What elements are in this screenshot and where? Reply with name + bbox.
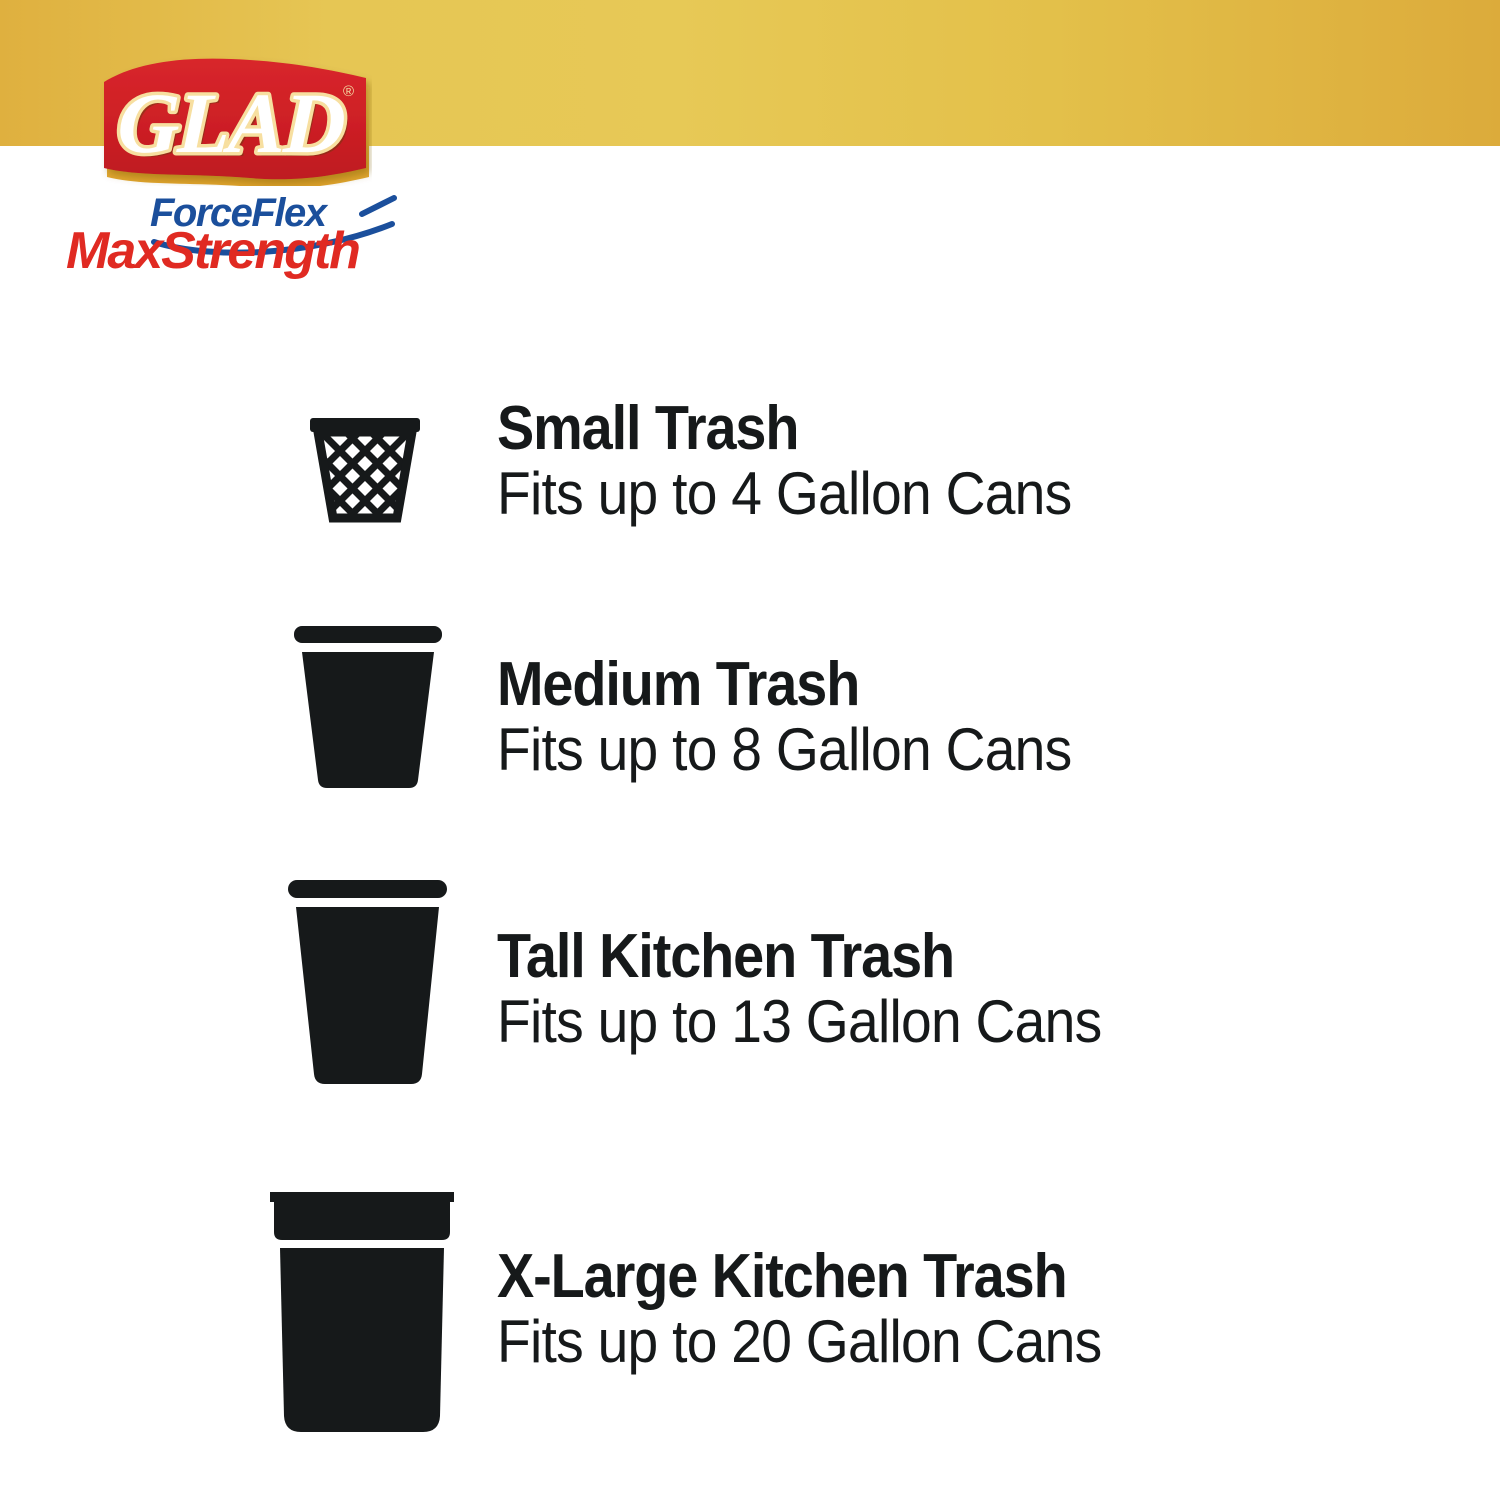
size-subtitle: Fits up to 13 Gallon Cans xyxy=(497,990,1101,1054)
size-row-tall-kitchen-text: Tall Kitchen Trash Fits up to 13 Gallon … xyxy=(497,924,1154,1054)
trash-size-list: Small Trash Fits up to 4 Gallon Cans Med… xyxy=(0,0,1500,1500)
size-subtitle: Fits up to 4 Gallon Cans xyxy=(497,462,1071,526)
size-subtitle: Fits up to 20 Gallon Cans xyxy=(497,1310,1101,1374)
size-title: Medium Trash xyxy=(497,652,1059,718)
medium-trash-can-icon xyxy=(288,620,448,795)
mesh-wastebasket-icon xyxy=(300,406,430,534)
xlarge-kitchen-trash-can-icon xyxy=(262,1184,462,1446)
size-row-xlarge-kitchen-text: X-Large Kitchen Trash Fits up to 20 Gall… xyxy=(497,1244,1154,1374)
size-row-small-text: Small Trash Fits up to 4 Gallon Cans xyxy=(497,396,1121,526)
size-row-medium-text: Medium Trash Fits up to 8 Gallon Cans xyxy=(497,652,1121,782)
size-title: Small Trash xyxy=(497,396,1059,462)
size-subtitle: Fits up to 8 Gallon Cans xyxy=(497,718,1071,782)
size-title: X-Large Kitchen Trash xyxy=(497,1244,1088,1310)
size-title: Tall Kitchen Trash xyxy=(497,924,1088,990)
tall-kitchen-trash-can-icon xyxy=(280,874,455,1092)
